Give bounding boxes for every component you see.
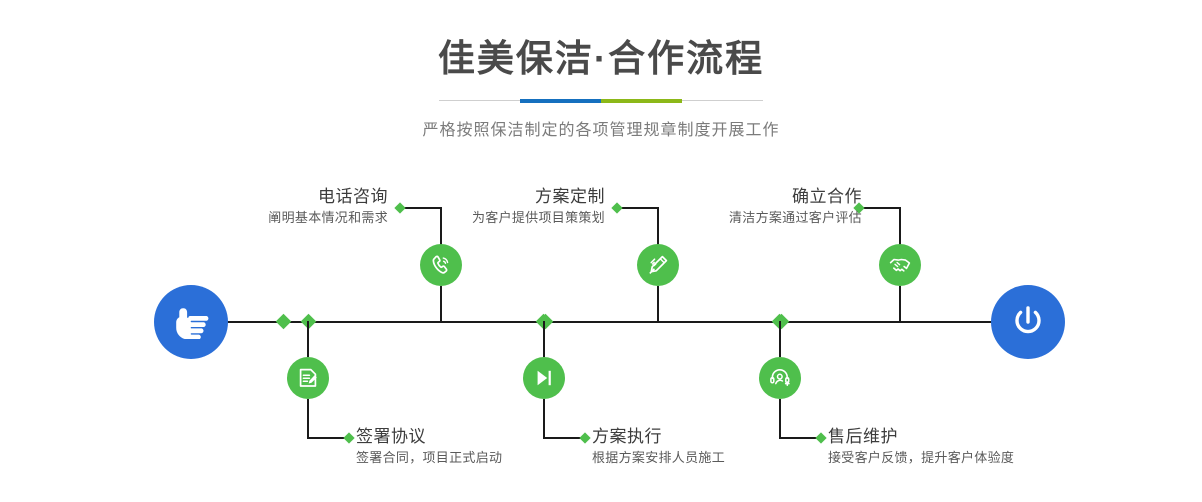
connector-node-to-axis-3: [657, 286, 659, 322]
step-label-3: 方案定制 为客户提供项目策策划: [472, 186, 605, 228]
handshake-icon: [888, 253, 912, 277]
connector-elbow-1: [400, 207, 442, 209]
connector-elbow-3: [617, 207, 659, 209]
step-title-6: 售后维护: [828, 426, 1014, 448]
label-marker-2: [343, 432, 354, 443]
step-node-1[interactable]: [420, 244, 462, 286]
label-marker-3: [611, 202, 622, 213]
step-label-4: 方案执行 根据方案安排人员施工: [592, 426, 725, 468]
label-marker-6: [815, 432, 826, 443]
flow-diagram-page: 佳美保洁·合作流程 严格按照保洁制定的各项管理规章制度开展工作: [0, 0, 1202, 502]
pointing-hand-icon: [171, 305, 211, 339]
step-title-4: 方案执行: [592, 426, 725, 448]
connector-node-to-axis-1: [440, 286, 442, 322]
label-marker-1: [394, 202, 405, 213]
connector-elbow-4: [543, 437, 584, 439]
process-timeline: 电话咨询 阐明基本情况和需求 签署协议 签署合同，项目正式启动: [0, 0, 1202, 502]
step-title-3: 方案定制: [472, 186, 605, 208]
connector-stem-4: [543, 399, 545, 438]
step-desc-3: 为客户提供项目策策划: [472, 208, 605, 228]
connector-stem-5: [899, 207, 901, 245]
timeline-end-endpoint: [991, 285, 1065, 359]
step-label-2: 签署协议 签署合同，项目正式启动: [356, 426, 502, 468]
play-forward-icon: [532, 366, 556, 390]
label-marker-4: [579, 432, 590, 443]
step-title-1: 电话咨询: [268, 186, 388, 208]
timeline-start-endpoint: [154, 285, 228, 359]
connector-node-to-axis-5: [899, 286, 901, 322]
step-node-4[interactable]: [523, 357, 565, 399]
connector-axis-to-node-4: [543, 321, 545, 357]
document-edit-icon: [296, 366, 320, 390]
pencil-ruler-icon: [646, 253, 670, 277]
step-title-5: 确立合作: [729, 186, 862, 208]
step-node-5[interactable]: [879, 244, 921, 286]
step-label-6: 售后维护 接受客户反馈，提升客户体验度: [828, 426, 1014, 468]
power-icon: [1009, 303, 1047, 341]
step-title-2: 签署协议: [356, 426, 502, 448]
connector-elbow-6: [779, 437, 820, 439]
step-desc-6: 接受客户反馈，提升客户体验度: [828, 448, 1014, 468]
connector-stem-3: [657, 207, 659, 245]
customer-service-icon: [768, 366, 792, 390]
step-desc-4: 根据方案安排人员施工: [592, 448, 725, 468]
timeline-marker-1: [276, 314, 292, 330]
step-label-1: 电话咨询 阐明基本情况和需求: [268, 186, 388, 228]
step-node-3[interactable]: [637, 244, 679, 286]
step-desc-5: 清洁方案通过客户评估: [729, 208, 862, 228]
connector-stem-1: [440, 207, 442, 245]
connector-elbow-5: [859, 207, 901, 209]
connector-axis-to-node-2: [307, 321, 309, 357]
phone-call-icon: [429, 253, 453, 277]
step-node-2[interactable]: [287, 357, 329, 399]
step-label-5: 确立合作 清洁方案通过客户评估: [729, 186, 862, 228]
connector-axis-to-node-6: [779, 321, 781, 357]
connector-stem-6: [779, 399, 781, 438]
step-desc-2: 签署合同，项目正式启动: [356, 448, 502, 468]
connector-elbow-2: [307, 437, 348, 439]
step-desc-1: 阐明基本情况和需求: [268, 208, 388, 228]
connector-stem-2: [307, 399, 309, 438]
step-node-6[interactable]: [759, 357, 801, 399]
